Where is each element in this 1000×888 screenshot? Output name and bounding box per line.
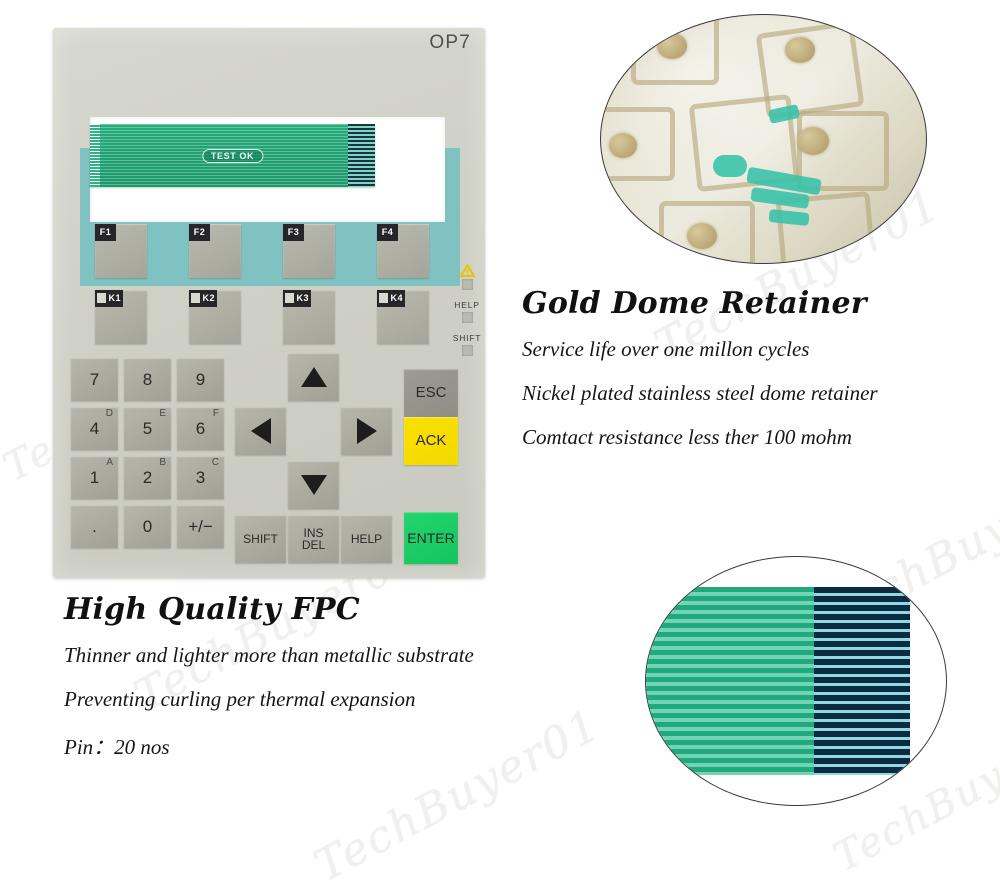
key-decimal-point[interactable]: . [71,505,118,548]
fpc-green-traces [646,587,814,775]
key-f3[interactable]: F3 [283,224,335,278]
key-enter-label: ENTER [407,531,454,545]
fpc-ribbon-cable: TEST OK [90,124,375,187]
key-k3[interactable]: K3 [283,290,335,344]
key-del-label: DEL [302,539,325,551]
key-k1-label: K1 [108,294,121,303]
warning-led-row [447,264,487,290]
key-plus-minus-label: +/− [188,518,213,535]
gold-dome-line-2: Nickel plated stainless steel dome retai… [522,381,878,406]
key-k4-led [379,293,388,303]
key-num-1-hex: A [106,458,113,468]
key-f1-tab: F1 [95,224,116,241]
key-f2-tab: F2 [189,224,210,241]
key-k1[interactable]: K1 [95,290,147,344]
key-num-3[interactable]: C 3 [177,456,224,499]
key-k3-led [285,293,294,303]
op7-keypad-panel: OP7 TEST OK F1 F2 F3 F4 K1 K2 K3 [53,28,485,578]
teal-ink-trace [768,209,809,226]
key-num-2[interactable]: B 2 [124,456,171,499]
help-led-row: HELP [447,300,487,323]
key-k2-tab: K2 [189,290,217,307]
warning-triangle-icon [460,264,475,277]
feature-block-gold-dome: Gold Dome Retainer Service life over one… [522,286,878,469]
fpc-contact-fingers [814,587,910,775]
gold-dome-pad [687,223,717,249]
key-arrow-left[interactable] [235,407,286,455]
key-k1-led [97,293,106,303]
key-num-6-hex: F [213,409,219,419]
key-num-2-hex: B [159,458,166,468]
key-num-9-label: 9 [196,371,205,388]
key-num-4[interactable]: D 4 [71,407,118,450]
arrow-up-icon [301,367,327,387]
key-k3-tab: K3 [283,290,311,307]
key-arrow-right[interactable] [341,407,392,455]
gold-dome-macro-photo [600,14,927,264]
key-shift[interactable]: SHIFT [235,515,286,563]
key-num-6-label: 6 [196,420,205,437]
gold-dome-pad [609,133,637,158]
key-k2[interactable]: K2 [189,290,241,344]
fpc-title: High Quality FPC [64,592,474,627]
fpc-ribbon-macro-photo [645,556,947,806]
shift-led-label: SHIFT [447,333,487,343]
key-num-8-label: 8 [143,371,152,388]
key-enter[interactable]: ENTER [404,512,458,564]
ribbon-left-edge [90,124,100,187]
gold-dome-pad [797,127,829,155]
key-esc[interactable]: ESC [404,369,458,417]
help-led-label: HELP [447,300,487,310]
key-decimal-point-label: . [92,518,97,535]
key-help[interactable]: HELP [341,515,392,563]
key-num-9[interactable]: 9 [177,358,224,401]
warning-led-window [462,279,473,290]
key-esc-label: ESC [416,385,447,400]
shift-led-row: SHIFT [447,333,487,356]
key-k4-tab: K4 [377,290,405,307]
key-num-3-hex: C [212,458,219,468]
key-num-0[interactable]: 0 [124,505,171,548]
key-k4[interactable]: K4 [377,290,429,344]
key-help-label: HELP [351,533,382,545]
key-num-2-label: 2 [143,469,152,486]
ribbon-contact-fingers [348,124,375,187]
key-f4[interactable]: F4 [377,224,429,278]
arrow-right-icon [357,418,377,444]
key-num-0-label: 0 [143,518,152,535]
fpc-line-1: Thinner and lighter more than metallic s… [64,643,474,668]
key-num-4-hex: D [106,409,113,419]
key-num-5[interactable]: E 5 [124,407,171,450]
key-ack[interactable]: ACK [404,417,458,465]
key-num-4-label: 4 [90,420,99,437]
key-num-5-hex: E [159,409,166,419]
arrow-down-icon [301,475,327,495]
key-arrow-up[interactable] [288,353,339,401]
key-num-6[interactable]: F 6 [177,407,224,450]
key-k4-label: K4 [390,294,403,303]
key-num-8[interactable]: 8 [124,358,171,401]
arrow-left-icon [251,418,271,444]
key-ack-label: ACK [416,433,447,448]
fpc-line-2: Preventing curling per thermal expansion [64,687,474,712]
status-led-column: HELP SHIFT [447,264,487,366]
key-num-7-label: 7 [90,371,99,388]
help-led-window [462,312,473,323]
key-f1[interactable]: F1 [95,224,147,278]
key-f3-tab: F3 [283,224,304,241]
feature-block-fpc: High Quality FPC Thinner and lighter mor… [64,592,474,780]
teal-ink-trace [713,155,747,177]
key-k1-tab: K1 [95,290,123,307]
key-f4-tab: F4 [377,224,398,241]
fpc-line-3: Pin：20 nos [64,731,474,761]
key-plus-minus[interactable]: +/− [177,505,224,548]
key-num-1-label: 1 [90,469,99,486]
gold-dome-line-3: Comtact resistance less ther 100 mohm [522,425,878,450]
key-k3-label: K3 [296,294,309,303]
key-num-3-label: 3 [196,469,205,486]
gold-dome-pad [657,33,687,59]
key-num-1[interactable]: A 1 [71,456,118,499]
key-f2[interactable]: F2 [189,224,241,278]
gold-dome-title: Gold Dome Retainer [522,286,878,321]
key-shift-label: SHIFT [243,533,278,545]
key-ins-del[interactable]: INS DEL [288,515,339,563]
test-ok-stamp: TEST OK [202,149,263,163]
panel-brand-label: OP7 [429,32,471,54]
key-k2-label: K2 [202,294,215,303]
gold-dome-pad [785,37,815,63]
key-k2-led [191,293,200,303]
key-arrow-down[interactable] [288,461,339,509]
key-num-7[interactable]: 7 [71,358,118,401]
key-num-5-label: 5 [143,420,152,437]
gold-dome-line-1: Service life over one millon cycles [522,337,878,362]
shift-led-window [462,345,473,356]
